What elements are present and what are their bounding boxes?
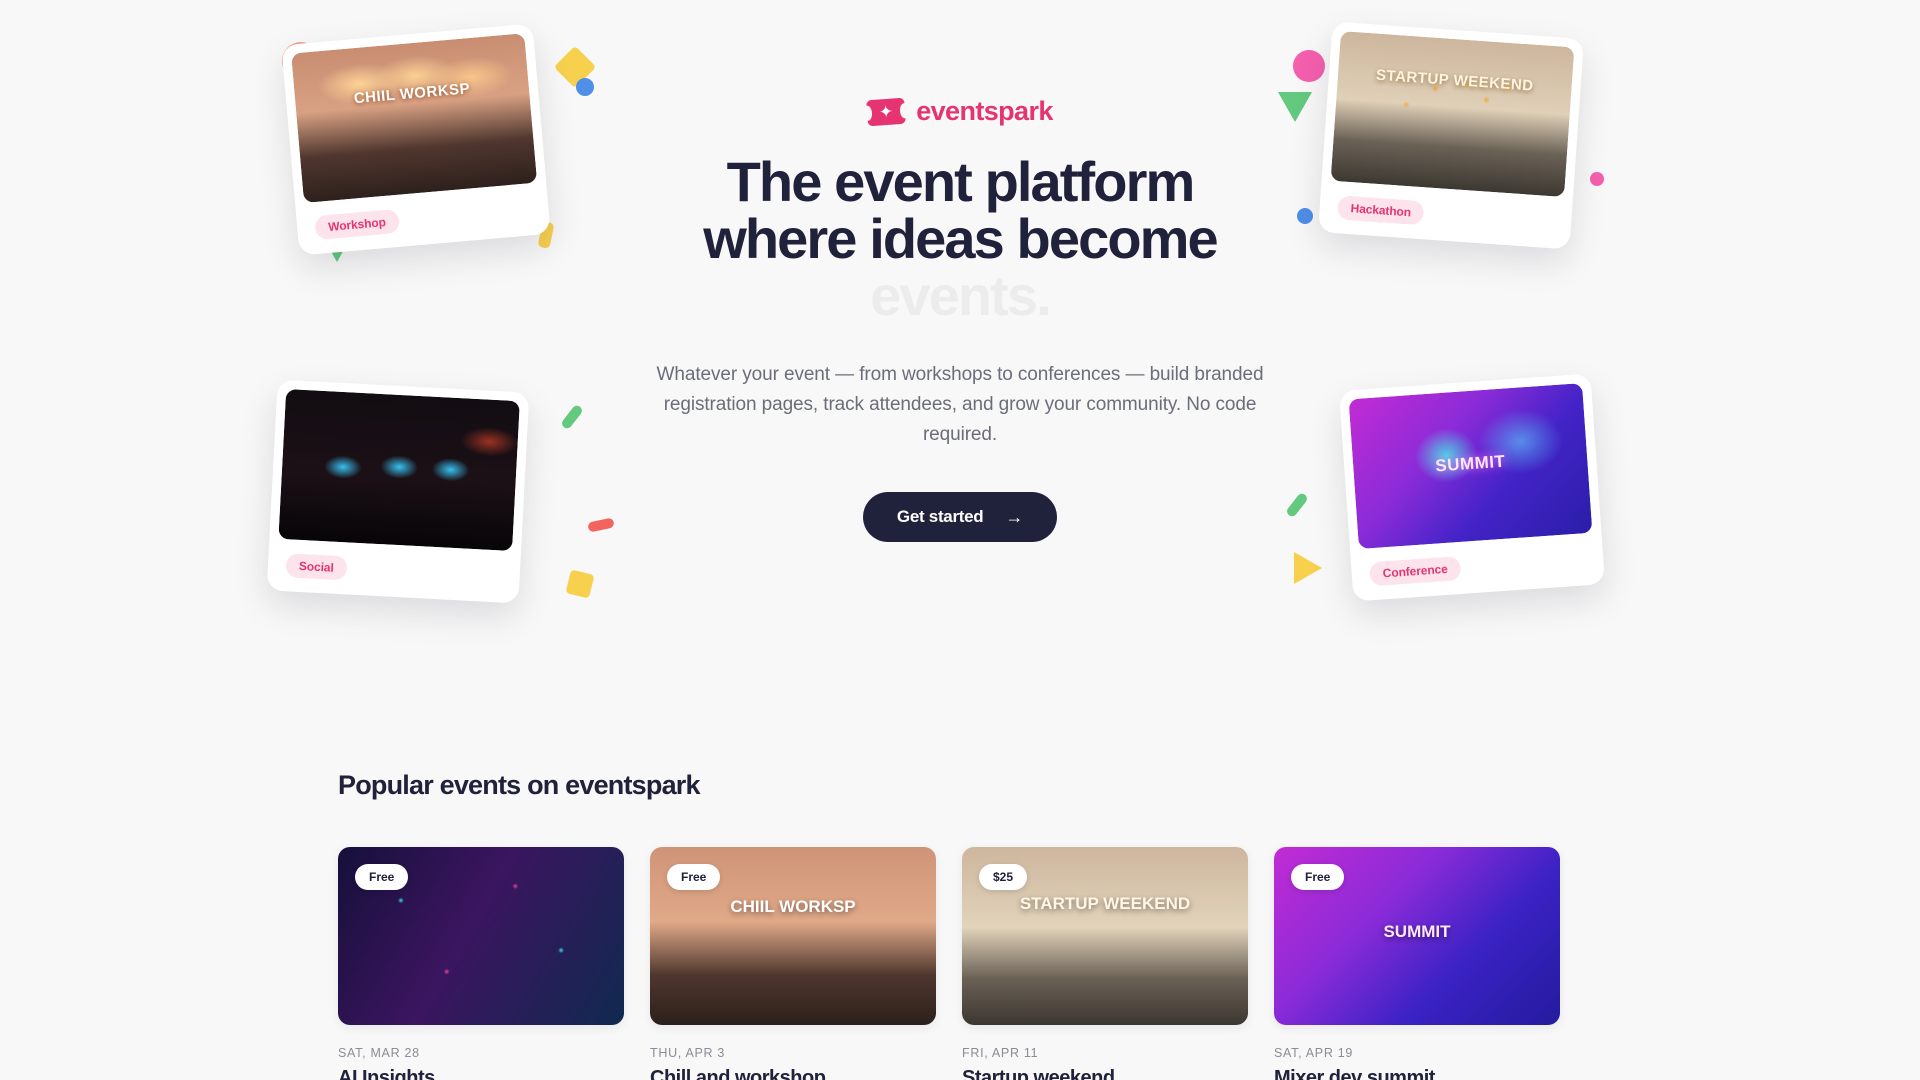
hero-subhead: Whatever your event — from workshops to …	[640, 360, 1280, 450]
event-thumbnail: Free	[338, 847, 624, 1025]
page-title: The event platform where ideas become ev…	[640, 153, 1280, 324]
event-date: SAT, MAR 28	[338, 1046, 624, 1060]
headline-line-3: events.	[640, 267, 1280, 324]
decor-circle-blue	[576, 78, 594, 96]
event-thumbnail: Free SUMMIT	[1274, 847, 1560, 1025]
event-title: Mixer dev summit	[1274, 1067, 1560, 1080]
hero-card-hackathon[interactable]: STARTUP WEEKEND Hackathon	[1318, 21, 1584, 249]
event-card[interactable]: $25 STARTUP WEEKEND FRI, APR 11 Startup …	[962, 847, 1248, 1080]
landing-page: CHIIL WORKSP Workshop STARTUP WEEKEND Ha…	[0, 0, 1920, 1080]
event-price-badge: Free	[667, 864, 720, 890]
decor-circle-pink-small	[1590, 172, 1604, 186]
headline-line-1: The event platform	[640, 153, 1280, 210]
photo-caption-text: STARTUP WEEKEND	[1337, 64, 1572, 99]
event-card[interactable]: Free SAT, MAR 28 AI Insights	[338, 847, 624, 1080]
event-title: Chill and workshop	[650, 1067, 936, 1080]
event-thumbnail: $25 STARTUP WEEKEND	[962, 847, 1248, 1025]
brand-name: eventspark	[916, 96, 1053, 127]
event-title: AI Insights	[338, 1067, 624, 1080]
hero-card-badge: Hackathon	[1337, 195, 1425, 225]
decor-bar-green-bottom	[1285, 492, 1309, 519]
ticket-icon: ✦	[866, 97, 906, 126]
decor-circle-blue-right	[1297, 208, 1313, 224]
photo-caption-text: CHIIL WORKSP	[295, 75, 530, 112]
event-price-badge: Free	[1291, 864, 1344, 890]
event-date: SAT, APR 19	[1274, 1046, 1560, 1060]
hero-card-badge: Social	[285, 553, 347, 580]
hero-card-badge: Conference	[1369, 556, 1461, 586]
brand-logo[interactable]: ✦ eventspark	[640, 96, 1280, 127]
get-started-button[interactable]: Get started →	[863, 492, 1057, 542]
photo-caption-text: SUMMIT	[1353, 446, 1588, 482]
hero-card-conference[interactable]: SUMMIT Conference	[1339, 373, 1605, 601]
decor-triangle-green-right	[1278, 92, 1312, 122]
events-grid: Free SAT, MAR 28 AI Insights Free CHIIL …	[338, 847, 1920, 1080]
event-date: THU, APR 3	[650, 1046, 936, 1060]
popular-events-heading: Popular events on eventspark	[338, 770, 1920, 801]
hero-card-social[interactable]: Social	[267, 380, 530, 604]
hero-card-photo: CHIIL WORKSP	[291, 33, 537, 203]
decor-bar-red	[587, 517, 615, 532]
event-price-badge: $25	[979, 864, 1027, 890]
hero-section: CHIIL WORKSP Workshop STARTUP WEEKEND Ha…	[0, 0, 1920, 720]
event-thumb-text: CHIIL WORKSP	[650, 897, 936, 917]
event-card[interactable]: Free SUMMIT SAT, APR 19 Mixer dev summit	[1274, 847, 1560, 1080]
hero-content: ✦ eventspark The event platform where id…	[640, 96, 1280, 542]
event-thumb-text: STARTUP WEEKEND	[962, 893, 1248, 914]
event-thumbnail: Free CHIIL WORKSP	[650, 847, 936, 1025]
event-thumb-text: SUMMIT	[1274, 922, 1560, 942]
event-title: Startup weekend	[962, 1067, 1248, 1080]
event-date: FRI, APR 11	[962, 1046, 1248, 1060]
decor-circle-pink-top	[1293, 50, 1325, 82]
hero-card-badge: Workshop	[314, 209, 399, 240]
hero-card-photo: SUMMIT	[1349, 383, 1593, 549]
hero-card-photo: STARTUP WEEKEND	[1331, 31, 1575, 197]
photo-caption-text	[286, 389, 520, 401]
hero-card-workshop[interactable]: CHIIL WORKSP Workshop	[281, 23, 550, 255]
decor-triangle-yellow	[1294, 552, 1322, 584]
get-started-label: Get started	[897, 507, 983, 527]
event-price-badge: Free	[355, 864, 408, 890]
popular-events-section: Popular events on eventspark Free SAT, M…	[0, 770, 1920, 1080]
arrow-right-icon: →	[1005, 507, 1023, 528]
decor-bar-green	[560, 404, 584, 431]
decor-bar-yellow-bottom	[565, 569, 594, 598]
hero-card-photo	[278, 389, 520, 551]
headline-line-2: where ideas become	[640, 210, 1280, 267]
event-card[interactable]: Free CHIIL WORKSP THU, APR 3 Chill and w…	[650, 847, 936, 1080]
